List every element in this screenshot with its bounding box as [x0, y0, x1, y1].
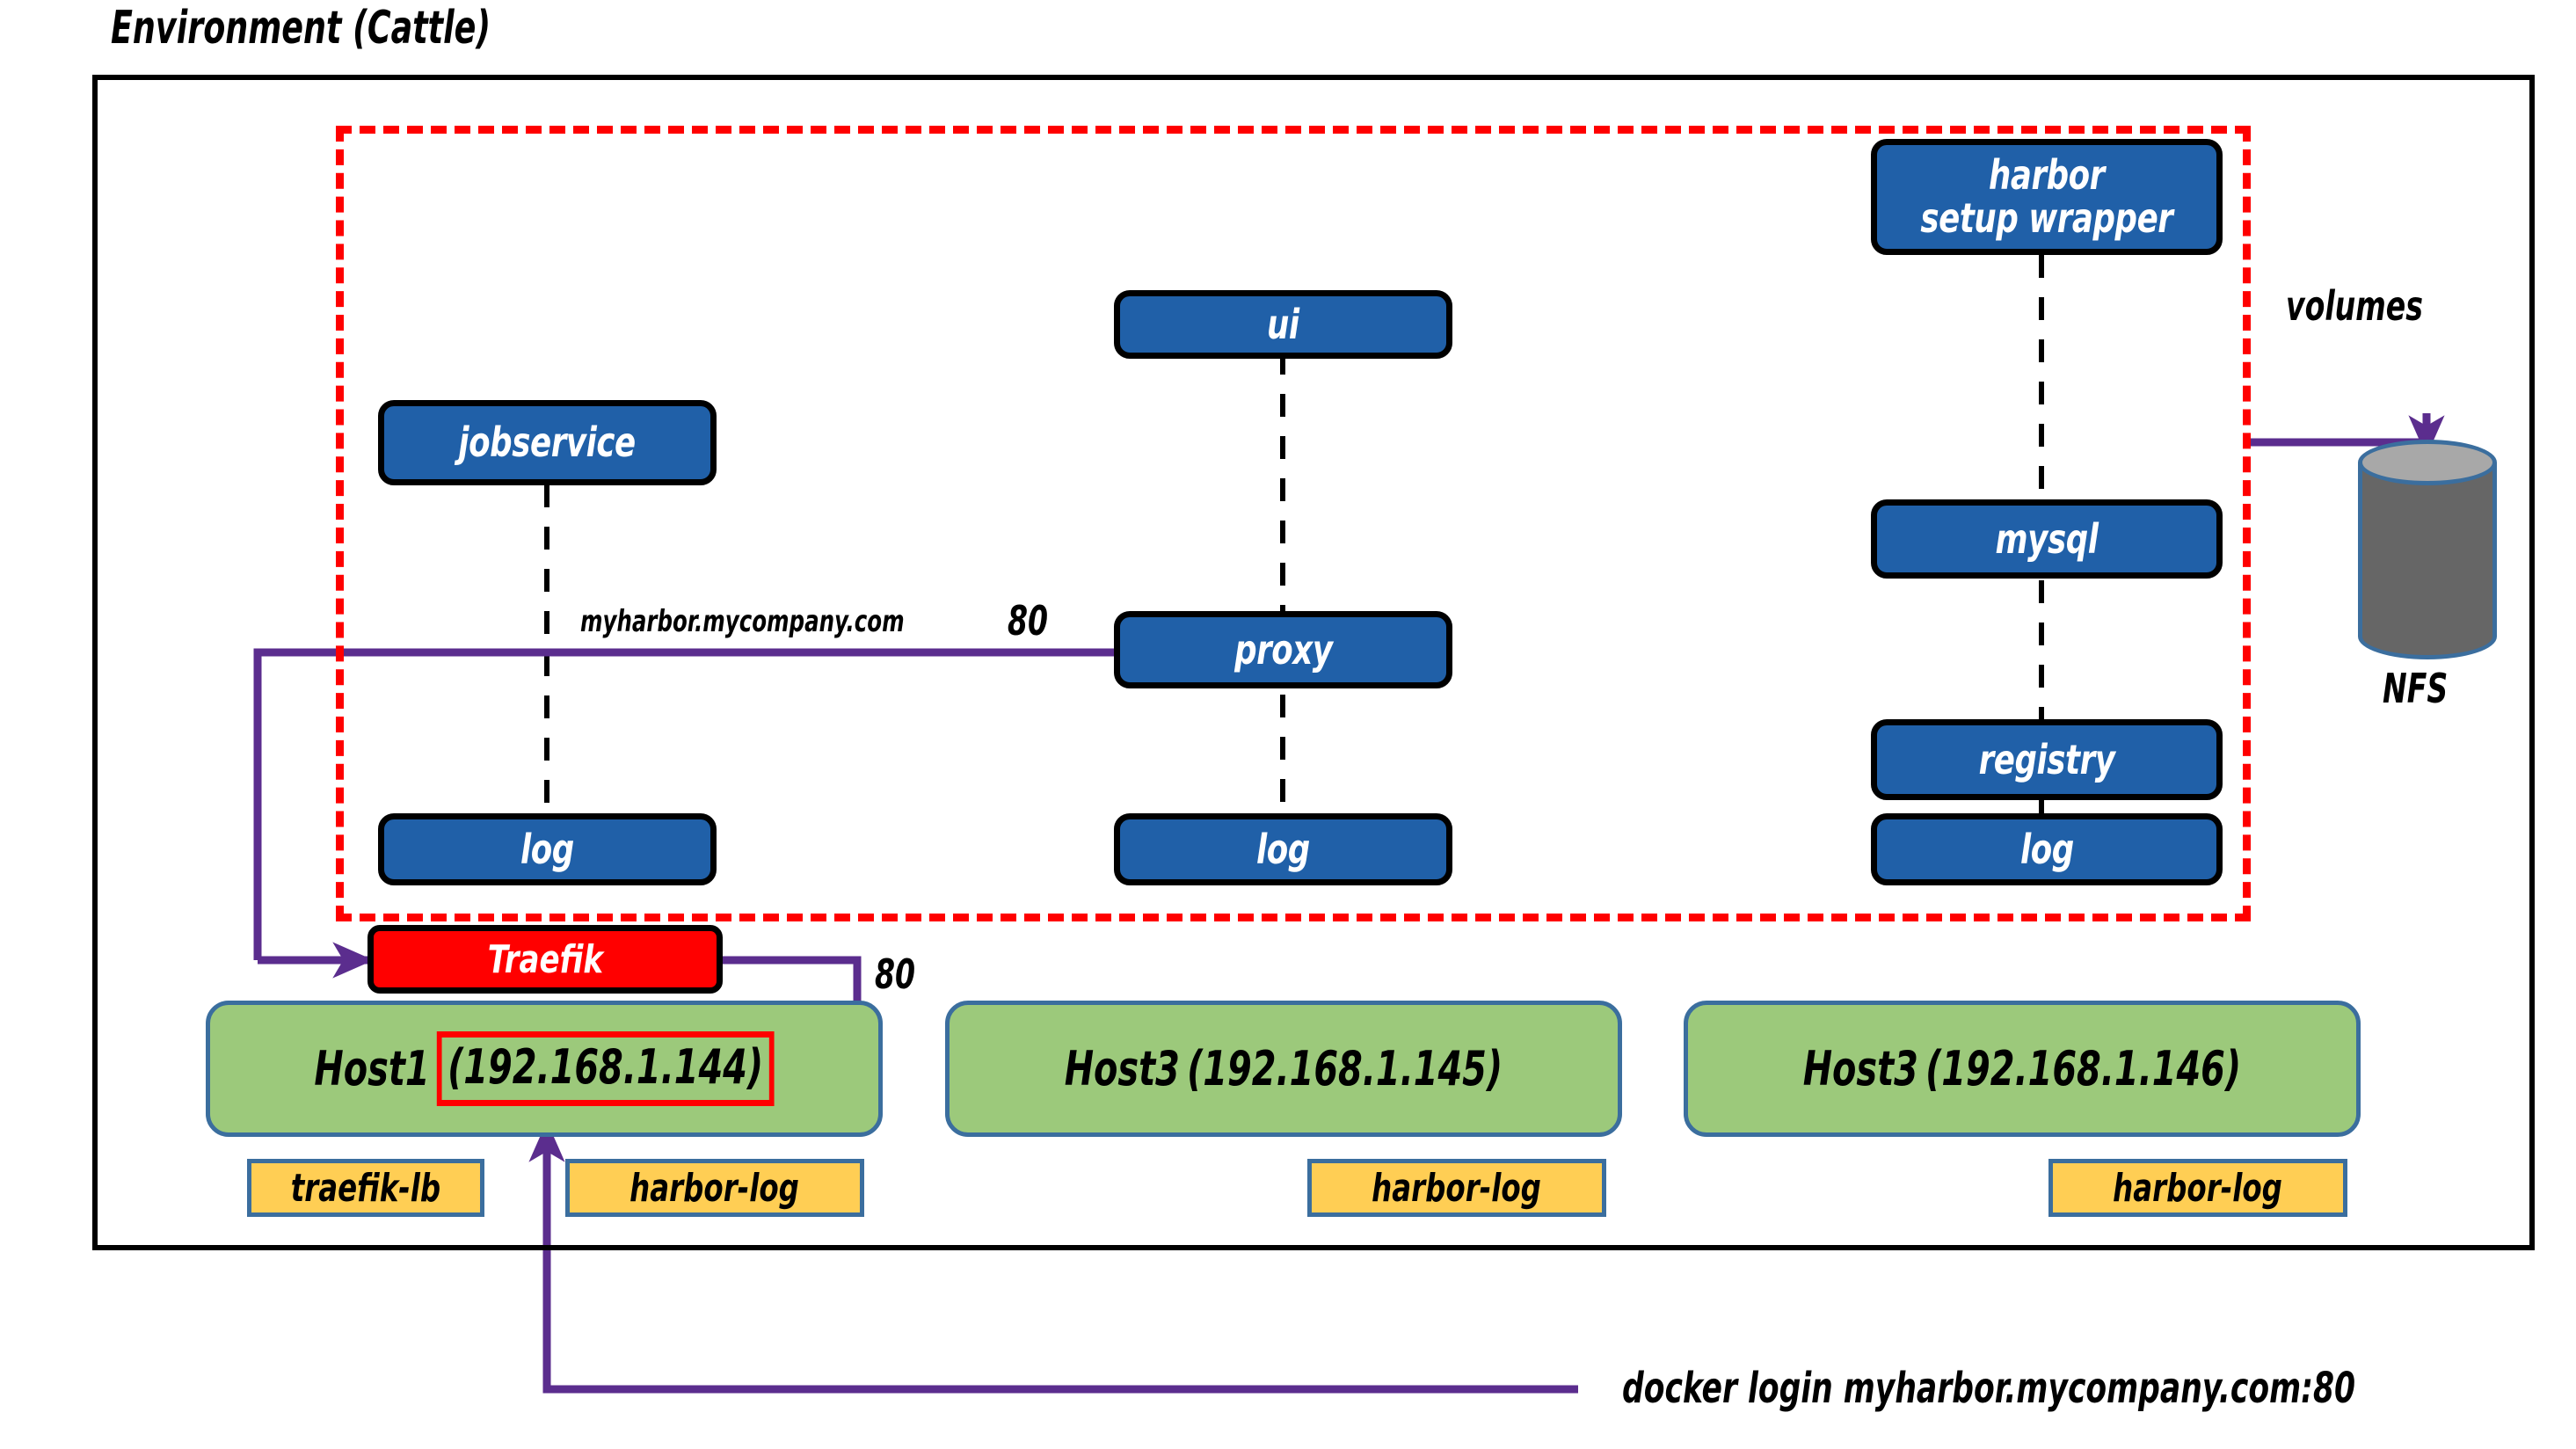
environment-title: Environment (Cattle)	[111, 5, 491, 51]
service-box-registry[interactable]: registry	[1871, 719, 2223, 800]
traefik-label: Traefik	[487, 937, 602, 982]
traefik-box[interactable]: Traefik	[367, 925, 723, 994]
host1-label: Host1 (192.168.1.144)	[314, 1031, 774, 1106]
host1-name: Host1	[314, 1041, 429, 1096]
host-box-host2[interactable]: Host3 (192.168.1.145)	[945, 1001, 1622, 1137]
service-box-log-left[interactable]: log	[378, 813, 717, 885]
service-label-registry: registry	[1979, 739, 2115, 782]
service-label-proxy: proxy	[1234, 629, 1332, 672]
service-box-log-right[interactable]: log	[1871, 813, 2223, 885]
service-box-harbor-setup-wrapper[interactable]: harbor setup wrapper	[1871, 139, 2223, 255]
host2-ip: (192.168.1.145)	[1187, 1041, 1503, 1096]
host1-tag-traefik-lb-label: traefik-lb	[291, 1166, 440, 1211]
nfs-label: NFS	[2383, 668, 2448, 709]
docker-login-command: docker login myharbor.mycompany.com:80	[1622, 1367, 2355, 1409]
cylinder-top	[2358, 440, 2497, 485]
host2-name: Host3	[1065, 1041, 1180, 1096]
host1-ip-highlighted: (192.168.1.144)	[437, 1031, 775, 1106]
host-box-host1[interactable]: Host1 (192.168.1.144)	[206, 1001, 883, 1137]
host2-tag-harbor-log-label: harbor-log	[1372, 1166, 1542, 1211]
cylinder-body	[2358, 462, 2497, 637]
service-box-ui[interactable]: ui	[1114, 290, 1452, 359]
service-box-proxy[interactable]: proxy	[1114, 611, 1452, 688]
ingress-port-label: 80	[1008, 601, 1048, 641]
diagram-canvas: Environment (Cattle) jobservice log ui p…	[0, 0, 2576, 1449]
service-box-jobservice[interactable]: jobservice	[378, 400, 717, 485]
service-label-log-left: log	[520, 828, 574, 871]
host1-tag-harbor-log-label: harbor-log	[630, 1166, 800, 1211]
service-box-mysql[interactable]: mysql	[1871, 499, 2223, 579]
service-label-log-right: log	[2020, 828, 2074, 871]
nfs-cylinder	[2358, 440, 2497, 659]
service-label-mysql: mysql	[1995, 518, 2098, 561]
volumes-label: volumes	[2286, 286, 2423, 326]
host3-tag-harbor-log-label: harbor-log	[2114, 1166, 2283, 1211]
host3-name: Host3	[1803, 1041, 1918, 1096]
traefik-port-label: 80	[875, 954, 915, 994]
host2-tag-harbor-log[interactable]: harbor-log	[1307, 1159, 1606, 1217]
service-label-ui: ui	[1267, 303, 1299, 346]
host1-tag-traefik-lb[interactable]: traefik-lb	[247, 1159, 484, 1217]
service-label-harbor-setup-wrapper: harbor setup wrapper	[1920, 154, 2172, 240]
host-box-host3[interactable]: Host3 (192.168.1.146)	[1684, 1001, 2361, 1137]
host3-ip: (192.168.1.146)	[1925, 1041, 2241, 1096]
service-label-log-mid: log	[1256, 828, 1310, 871]
ingress-hostname-label: myharbor.mycompany.com	[580, 607, 905, 637]
service-box-log-mid[interactable]: log	[1114, 813, 1452, 885]
host1-tag-harbor-log[interactable]: harbor-log	[565, 1159, 864, 1217]
host3-tag-harbor-log[interactable]: harbor-log	[2048, 1159, 2347, 1217]
service-label-jobservice: jobservice	[459, 421, 636, 464]
host3-label: Host3 (192.168.1.146)	[1803, 1041, 2241, 1096]
host2-label: Host3 (192.168.1.145)	[1065, 1041, 1503, 1096]
